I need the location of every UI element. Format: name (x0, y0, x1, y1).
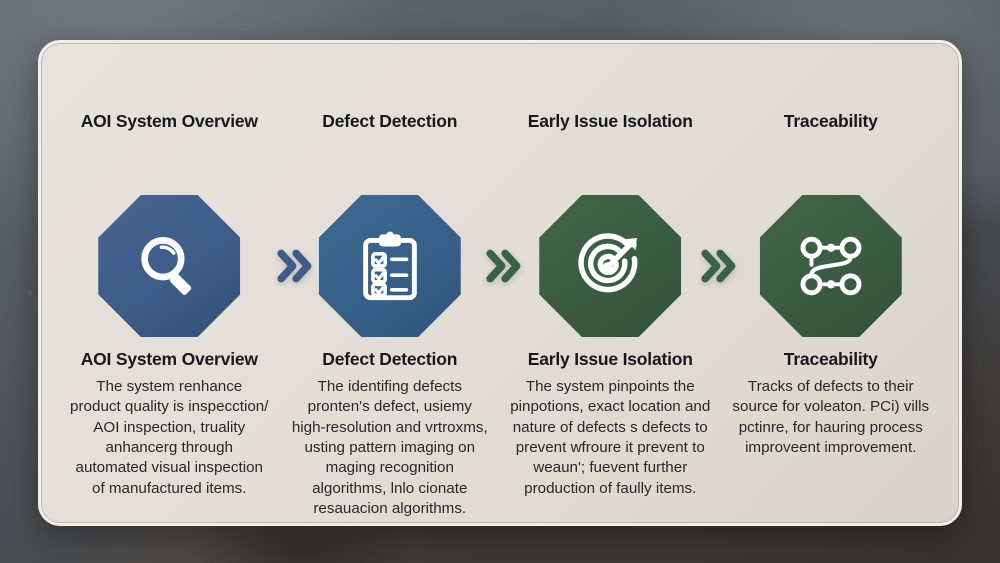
content-column-traceability: Traceability Tracks of defects to their … (721, 349, 942, 520)
double-chevron-right-icon (481, 243, 527, 289)
content-row: AOI System Overview The system renhance … (59, 349, 941, 520)
top-title-aoi-system-overview: AOI System Overview (59, 111, 280, 132)
clipboard-checklist-icon (351, 227, 429, 305)
content-column-early-issue-isolation: Early Issue Isolation The system pinpoin… (500, 349, 721, 520)
infographic-card: AOI System Overview Defect Detection Ear… (38, 40, 962, 526)
section-heading: Defect Detection (290, 349, 491, 370)
octagon-shape-blue-alt (319, 195, 461, 337)
content-column-defect-detection: Defect Detection The identifing defects … (280, 349, 501, 520)
target-arrow-icon (571, 227, 649, 305)
section-body: The system pinpoints the pinpotions, exa… (510, 377, 711, 499)
octagon-shape-green-2 (760, 195, 902, 337)
top-title-traceability: Traceability (721, 111, 942, 132)
content-column-aoi-system-overview: AOI System Overview The system renhance … (59, 349, 280, 520)
process-flow-row (59, 191, 941, 341)
separator-chevron-3 (696, 243, 742, 289)
top-title-row: AOI System Overview Defect Detection Ear… (59, 111, 941, 132)
section-heading: AOI System Overview (69, 349, 270, 370)
separator-chevron-1 (272, 243, 318, 289)
magnifier-icon (130, 227, 208, 305)
flow-step-early-issue-isolation[interactable] (500, 195, 721, 337)
top-title-early-issue-isolation: Early Issue Isolation (500, 111, 721, 132)
double-chevron-right-icon (696, 243, 742, 289)
double-chevron-right-icon (272, 243, 318, 289)
section-body: The system renhance product quality is i… (69, 377, 270, 499)
top-title-defect-detection: Defect Detection (280, 111, 501, 132)
section-heading: Early Issue Isolation (510, 349, 711, 370)
section-body: The identifing defects pronten's defect,… (290, 377, 491, 520)
octagon-shape-blue (98, 195, 240, 337)
section-heading: Traceability (731, 349, 932, 370)
flow-step-aoi-system-overview[interactable] (59, 195, 280, 337)
network-nodes-icon (792, 227, 870, 305)
separator-chevron-2 (481, 243, 527, 289)
octagon-shape-green (539, 195, 681, 337)
section-body: Tracks of defects to their source for vo… (731, 377, 932, 458)
flow-step-traceability[interactable] (721, 195, 942, 337)
